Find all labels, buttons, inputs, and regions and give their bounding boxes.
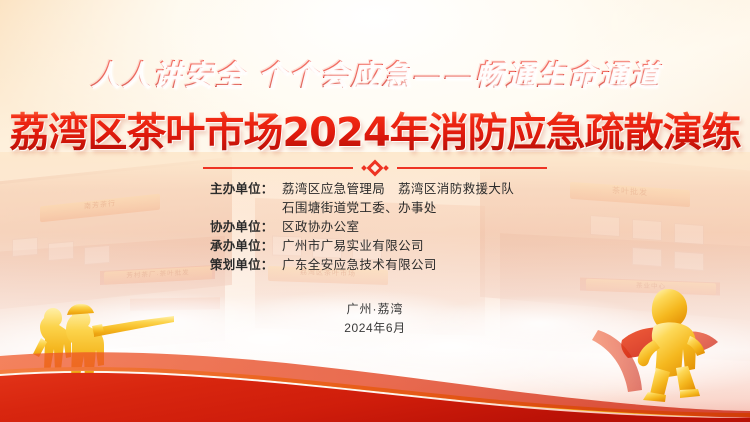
- organizer-value: 石围塘街道党工委、办事处: [282, 199, 437, 218]
- slogan-text: 人人讲安全 个个会应急——畅通生命通道: [0, 52, 750, 94]
- organizer-row: 主办单位： 荔湾区应急管理局 荔湾区消防救援大队: [210, 180, 540, 199]
- organizer-label: 主办单位：: [210, 180, 282, 199]
- organizer-row: 承办单位： 广州市广易实业有限公司: [210, 237, 540, 256]
- organizer-row: 策划单位： 广东全安应急技术有限公司: [210, 256, 540, 275]
- footer: 广州·荔湾 2024年6月: [0, 300, 750, 338]
- organizer-value: 荔湾区应急管理局 荔湾区消防救援大队: [282, 180, 514, 199]
- organizer-row: 协办单位： 区政协办公室: [210, 218, 540, 237]
- organizer-value: 广东全安应急技术有限公司: [282, 256, 437, 275]
- divider: [0, 162, 750, 174]
- page-title: 荔湾区茶叶市场2024年消防应急疏散演练: [0, 100, 750, 158]
- poster-canvas: 南芳茶行 芳村茶厂·茶叶批发 荔湾区茶叶市场 茶叶批发 茶业中心: [0, 0, 750, 422]
- organizer-label: 协办单位：: [210, 218, 282, 237]
- divider-rule-right: [397, 167, 547, 169]
- organizer-value: 广州市广易实业有限公司: [282, 237, 424, 256]
- diamond-ornament-icon: [362, 162, 388, 174]
- footer-location: 广州·荔湾: [0, 300, 750, 319]
- organizer-label: 策划单位：: [210, 256, 282, 275]
- footer-date: 2024年6月: [0, 319, 750, 338]
- divider-rule-left: [203, 167, 353, 169]
- organizer-row: 主办单位： 石围塘街道党工委、办事处: [210, 199, 540, 218]
- organizer-value: 区政协办公室: [282, 218, 359, 237]
- organizer-label: 承办单位：: [210, 237, 282, 256]
- organizer-list: 主办单位： 荔湾区应急管理局 荔湾区消防救援大队 主办单位： 石围塘街道党工委、…: [0, 180, 750, 275]
